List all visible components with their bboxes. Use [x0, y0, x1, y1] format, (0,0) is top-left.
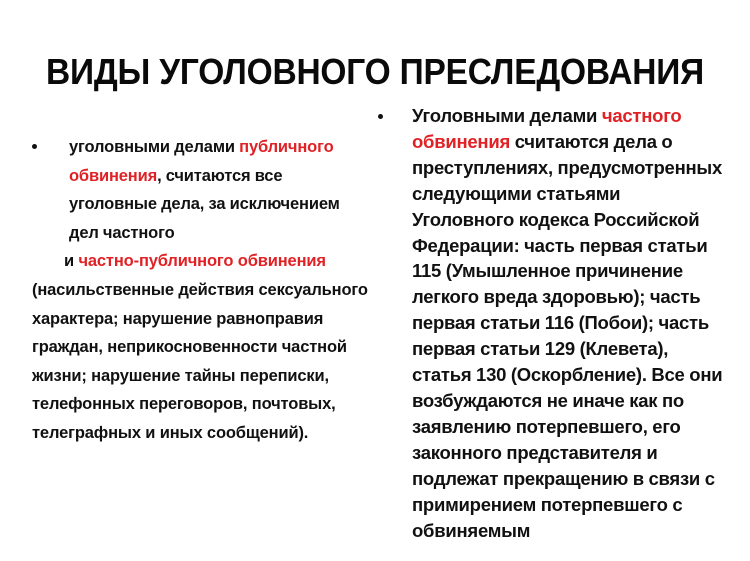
right-column: Уголовными делами частного обвинения счи… — [378, 103, 726, 543]
left-p1-run1: уголовными делами — [69, 138, 239, 156]
bullet-icon — [32, 144, 37, 149]
list-item: Уголовными делами частного обвинения счи… — [378, 103, 726, 543]
left-paragraph-one: уголовными делами публичного обвинения, … — [69, 133, 372, 247]
list-item: уголовными делами публичного обвинения, … — [32, 133, 372, 247]
left-paragraph-two: и частно-публичного обвинения(насильстве… — [32, 247, 372, 447]
left-p2-run3: (насильственные действия сексуального ха… — [32, 281, 368, 442]
right-p1-run3: считаются дела о преступлениях, предусмо… — [412, 131, 722, 541]
left-p2-highlight: частно-публичного обвинения — [78, 252, 325, 270]
content-columns: уголовными делами публичного обвинения, … — [0, 0, 750, 561]
left-p2-indent-line: и частно-публичного обвинения — [32, 247, 372, 276]
right-paragraph-one: Уголовными делами частного обвинения счи… — [412, 103, 726, 543]
slide-canvas: ВИДЫ УГОЛОВНОГО ПРЕСЛЕДОВАНИЯ уголовными… — [0, 0, 750, 561]
right-p1-run1: Уголовными делами — [412, 105, 602, 126]
bullet-icon — [378, 114, 383, 119]
left-p2-run1: и — [64, 252, 78, 270]
left-column: уголовными делами публичного обвинения, … — [32, 133, 372, 448]
